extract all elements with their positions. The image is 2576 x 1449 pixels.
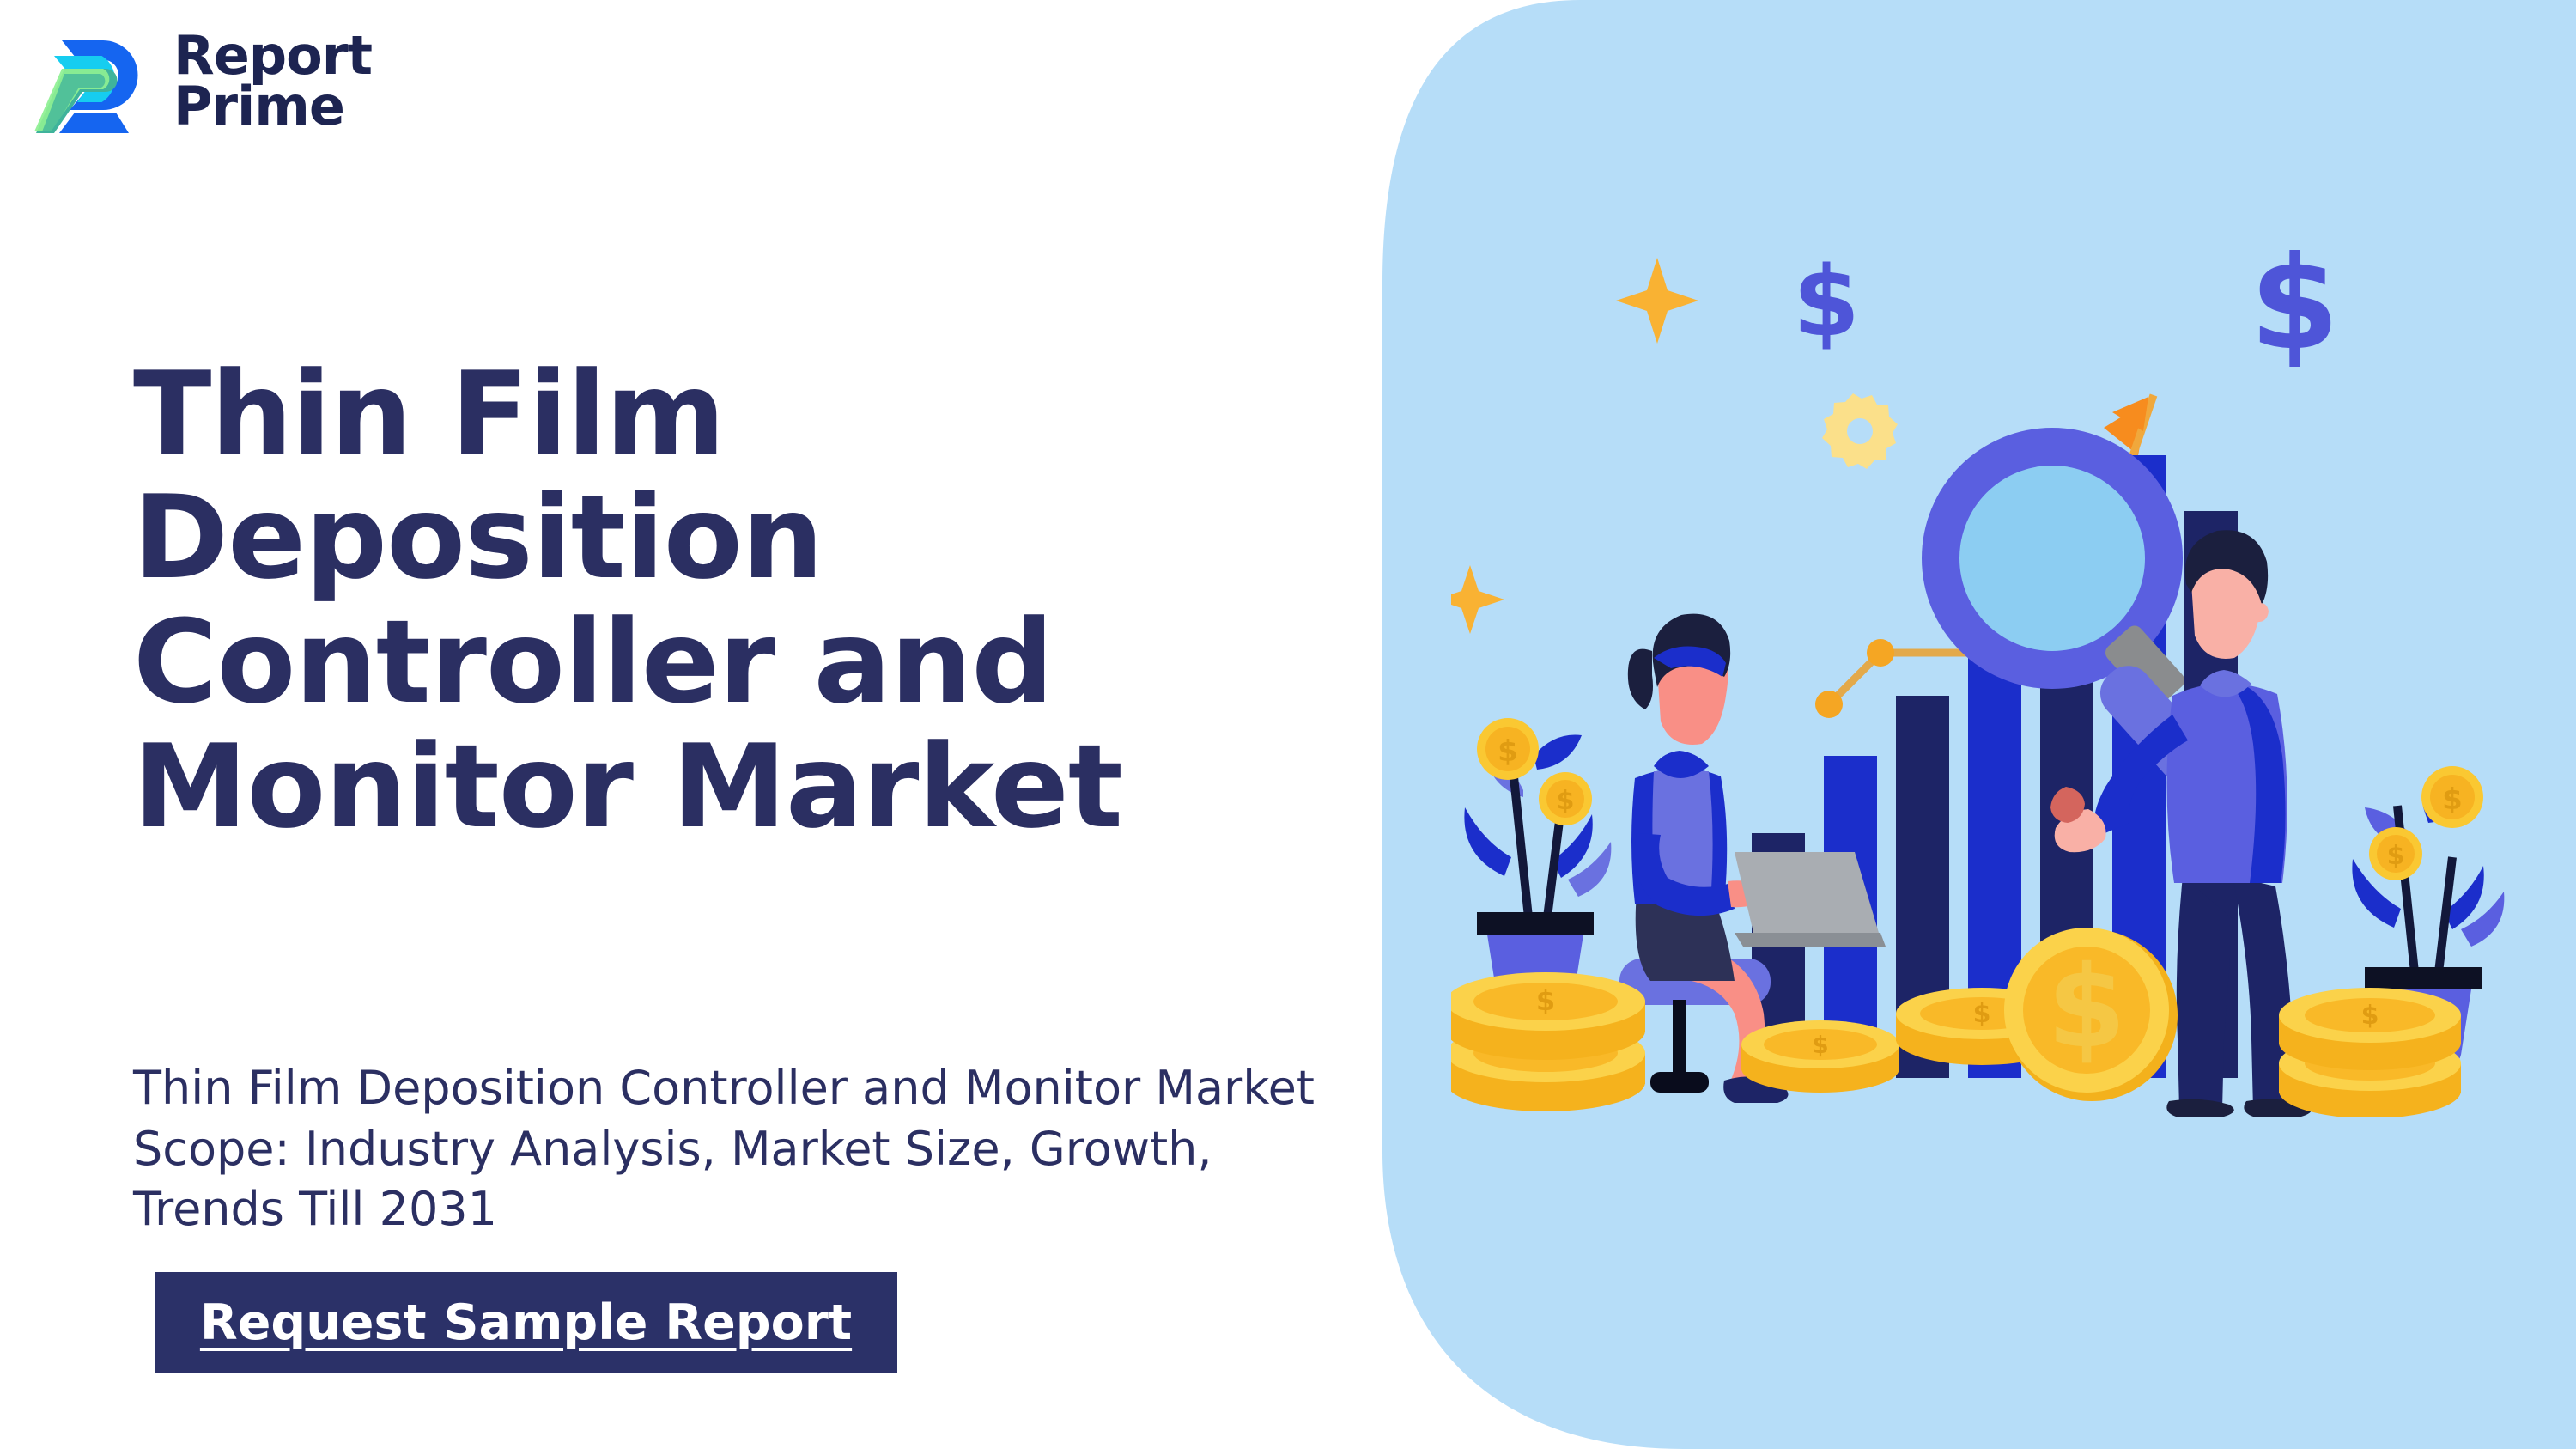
- svg-text:$: $: [2047, 941, 2126, 1074]
- hero-banner: Report Prime Thin Film Deposition Contro…: [0, 0, 2576, 1449]
- page-subtitle-line-2: Scope: Industry Analysis, Market Size, G…: [133, 1119, 1541, 1180]
- svg-text:$: $: [1536, 984, 1555, 1017]
- brand-wordmark: Report Prime: [173, 31, 372, 132]
- sparkle-icon: [1616, 258, 1698, 344]
- svg-text:$: $: [1812, 1031, 1828, 1059]
- page-title-line-4: Monitor Market: [133, 725, 1473, 849]
- brand-logo[interactable]: Report Prime: [26, 17, 372, 146]
- page-title: Thin Film Deposition Controller and Moni…: [133, 352, 1473, 849]
- request-sample-report-label: Request Sample Report: [200, 1294, 852, 1351]
- coin-stack-icon: $: [2279, 988, 2461, 1117]
- svg-text:$: $: [1973, 999, 1991, 1029]
- coin-stack-icon: $: [1451, 972, 1645, 1111]
- dollar-sign-icon: $: [2250, 240, 2339, 379]
- dollar-sign-icon: $: [1793, 247, 1860, 358]
- svg-text:$: $: [1793, 247, 1860, 358]
- page-title-line-1: Thin Film: [133, 352, 1473, 477]
- market-analysis-illustration: $ $: [1451, 240, 2533, 1117]
- page-title-line-2: Deposition: [133, 476, 1473, 600]
- svg-text:$: $: [2250, 240, 2339, 379]
- request-sample-report-button[interactable]: Request Sample Report: [155, 1272, 897, 1373]
- report-prime-logo-icon: [26, 17, 155, 146]
- coin-icon: $: [1741, 1020, 1899, 1093]
- page-subtitle-line-1: Thin Film Deposition Controller and Moni…: [133, 1058, 1541, 1119]
- page-subtitle-line-3: Trends Till 2031: [133, 1179, 1541, 1240]
- svg-text:$: $: [1557, 786, 1575, 816]
- svg-text:$: $: [2442, 782, 2463, 817]
- svg-text:$: $: [2361, 1001, 2379, 1031]
- page-subtitle: Thin Film Deposition Controller and Moni…: [133, 1058, 1541, 1240]
- page-title-line-3: Controller and: [133, 600, 1473, 725]
- svg-text:$: $: [2387, 841, 2405, 871]
- brand-line-2: Prime: [173, 82, 372, 132]
- sparkle-icon: [1451, 565, 1504, 634]
- big-dollar-coin-icon: $: [2004, 928, 2178, 1101]
- gear-icon: [1822, 393, 1898, 469]
- money-plant-icon: $ $: [1464, 718, 1611, 1014]
- svg-text:$: $: [1498, 734, 1518, 769]
